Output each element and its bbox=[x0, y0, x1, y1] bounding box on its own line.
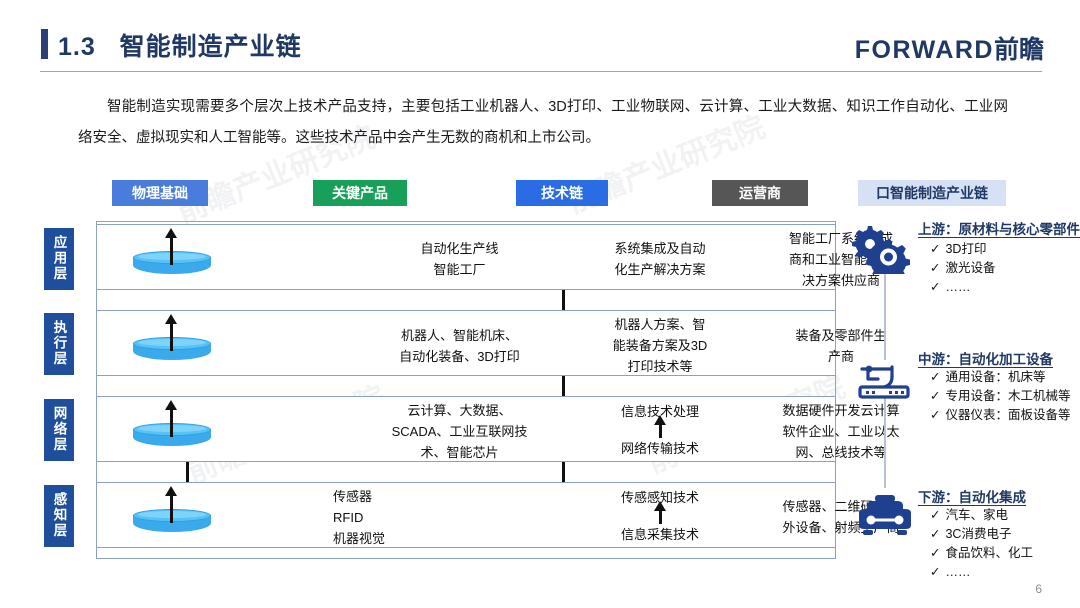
cell-tech-chain: 系统集成及自动 化生产解决方案 bbox=[587, 238, 733, 280]
inner-up-arrow bbox=[659, 510, 662, 524]
robot-arm-icon bbox=[856, 357, 912, 408]
check-icon: ✓ bbox=[930, 389, 940, 403]
check-icon: ✓ bbox=[930, 527, 940, 541]
physical-up-arrow bbox=[170, 323, 173, 351]
physical-up-arrow bbox=[170, 237, 173, 265]
chain-title-midstream: 中游：自动化加工设备 bbox=[918, 348, 1053, 368]
check-icon: ✓ bbox=[930, 242, 940, 256]
check-icon: ✓ bbox=[930, 370, 940, 384]
chain-item: 3D打印 bbox=[945, 242, 986, 256]
chain-item: 仪器仪表：面板设备等 bbox=[945, 408, 1070, 422]
column-header-tech-chain: 技术链 bbox=[516, 180, 608, 206]
chain-items-midstream: ✓通用设备：机床等 ✓专用设备：木工机械等 ✓仪器仪表：面板设备等 bbox=[930, 368, 1071, 425]
layer-tag-execution: 执行层 bbox=[44, 313, 74, 375]
chain-connector-line bbox=[884, 272, 886, 360]
chain-item: …… bbox=[945, 280, 970, 294]
check-icon: ✓ bbox=[930, 261, 940, 275]
layer-tag-application: 应用层 bbox=[44, 228, 74, 290]
layer-tag-perception: 感知层 bbox=[44, 485, 74, 547]
check-icon: ✓ bbox=[930, 280, 940, 294]
check-icon: ✓ bbox=[930, 565, 940, 579]
chain-connector-line bbox=[884, 398, 886, 488]
cell-key-product: 自动化生产线 智能工厂 bbox=[352, 238, 567, 280]
cell-key-product: 传感器 RFID 机器视觉 bbox=[333, 486, 453, 549]
title-accent-bar bbox=[41, 29, 48, 59]
inner-up-arrow bbox=[659, 424, 662, 438]
layer-row-network: 云计算、大数据、 SCADA、工业互联网技 术、智能芯片 信息技术处理 网络传输… bbox=[96, 396, 836, 462]
check-icon: ✓ bbox=[930, 408, 940, 422]
car-icon bbox=[855, 492, 915, 547]
brand-logo: FORWARD前瞻 bbox=[855, 30, 1044, 66]
layer-row-application: 自动化生产线 智能工厂 系统集成及自动 化生产解决方案 智能工厂系统集成 商和工… bbox=[96, 224, 836, 290]
cell-key-product: 云计算、大数据、 SCADA、工业互联网技 术、智能芯片 bbox=[352, 400, 567, 463]
check-icon: ✓ bbox=[930, 508, 940, 522]
cell-tech-chain: 机器人方案、智 能装备方案及3D 打印技术等 bbox=[587, 314, 733, 377]
layer-row-perception: 传感器 RFID 机器视觉 传感感知技术 信息采集技术 传感器、二维码、红 外设… bbox=[96, 482, 836, 548]
chain-title-downstream: 下游：自动化集成 bbox=[918, 486, 1026, 506]
chain-item: 通用设备：机床等 bbox=[945, 370, 1045, 384]
physical-up-arrow bbox=[170, 409, 173, 437]
layer-row-execution: 机器人、智能机床、 自动化装备、3D打印 机器人方案、智 能装备方案及3D 打印… bbox=[96, 310, 836, 376]
chain-items-upstream: ✓3D打印 ✓激光设备 ✓…… bbox=[930, 240, 996, 297]
column-header-industry-chain: 口智能制造产业链 bbox=[858, 180, 1006, 206]
chain-item: 汽车、家电 bbox=[945, 508, 1008, 522]
logo-latin: FORWARD bbox=[855, 36, 994, 64]
page-number: 6 bbox=[1035, 582, 1042, 596]
header-divider bbox=[40, 71, 1042, 72]
title-text: 智能制造产业链 bbox=[120, 33, 302, 61]
check-icon: ✓ bbox=[930, 546, 940, 560]
logo-cn: 前瞻 bbox=[994, 36, 1044, 64]
section-number: 1.3 bbox=[58, 33, 96, 61]
layer-tag-network: 网络层 bbox=[44, 399, 74, 461]
column-header-operator: 运营商 bbox=[712, 180, 808, 206]
slide-page: 前瞻产业研究院 前瞻产业研究院 前瞻产业研究院 前瞻产业研究院 1.3 智能制造… bbox=[0, 0, 1080, 608]
cell-tech-chain-bottom: 信息采集技术 bbox=[587, 524, 733, 545]
chain-item: 3C消费电子 bbox=[945, 527, 1011, 541]
physical-up-arrow bbox=[170, 495, 173, 523]
cell-tech-chain-bottom: 网络传输技术 bbox=[587, 438, 733, 459]
chain-item: 激光设备 bbox=[945, 261, 995, 275]
cell-operator: 数据硬件开发云计算 软件企业、工业以太 网、总线技术等 bbox=[757, 400, 925, 463]
column-header-key-product: 关键产品 bbox=[313, 180, 407, 206]
gear-icon bbox=[852, 224, 910, 279]
chain-title-upstream: 上游：原材料与核心零部件 bbox=[918, 218, 1080, 238]
page-title: 1.3 智能制造产业链 bbox=[58, 27, 302, 63]
chain-item: 食品饮料、化工 bbox=[945, 546, 1033, 560]
intro-paragraph: 智能制造实现需要多个层次上技术产品支持，主要包括工业机器人、3D打印、工业物联网… bbox=[78, 92, 1008, 154]
chain-items-downstream: ✓汽车、家电 ✓3C消费电子 ✓食品饮料、化工 ✓…… bbox=[930, 506, 1033, 582]
chain-item: …… bbox=[945, 565, 970, 579]
cell-key-product: 机器人、智能机床、 自动化装备、3D打印 bbox=[352, 325, 567, 367]
chain-item: 专用设备：木工机械等 bbox=[945, 389, 1070, 403]
column-header-physical: 物理基础 bbox=[112, 180, 208, 206]
